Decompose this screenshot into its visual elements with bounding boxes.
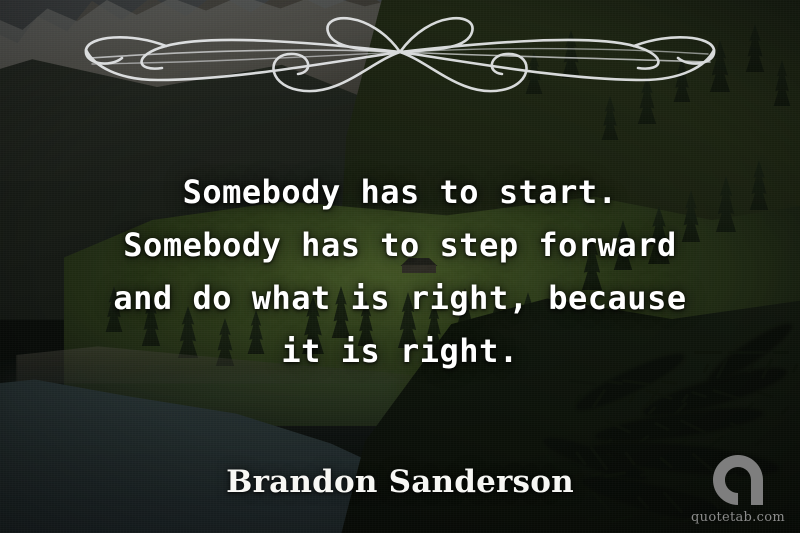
quote-line: it is right. <box>26 325 774 378</box>
brand-site-label[interactable]: quotetab.com <box>690 510 786 525</box>
flourish-ornament-icon <box>70 6 730 98</box>
quote-line: and do what is right, because <box>26 272 774 325</box>
card-content: Somebody has to start. Somebody has to s… <box>0 0 800 533</box>
quote-line: Somebody has to start. <box>26 166 774 219</box>
author-name: Brandon Sanderson <box>0 464 800 500</box>
quotetab-logo-icon[interactable] <box>709 451 767 509</box>
brand-watermark[interactable]: quotetab.com <box>690 451 786 525</box>
quote-text: Somebody has to start. Somebody has to s… <box>0 166 800 378</box>
quote-line: Somebody has to step forward <box>26 219 774 272</box>
quote-card: Somebody has to start. Somebody has to s… <box>0 0 800 533</box>
